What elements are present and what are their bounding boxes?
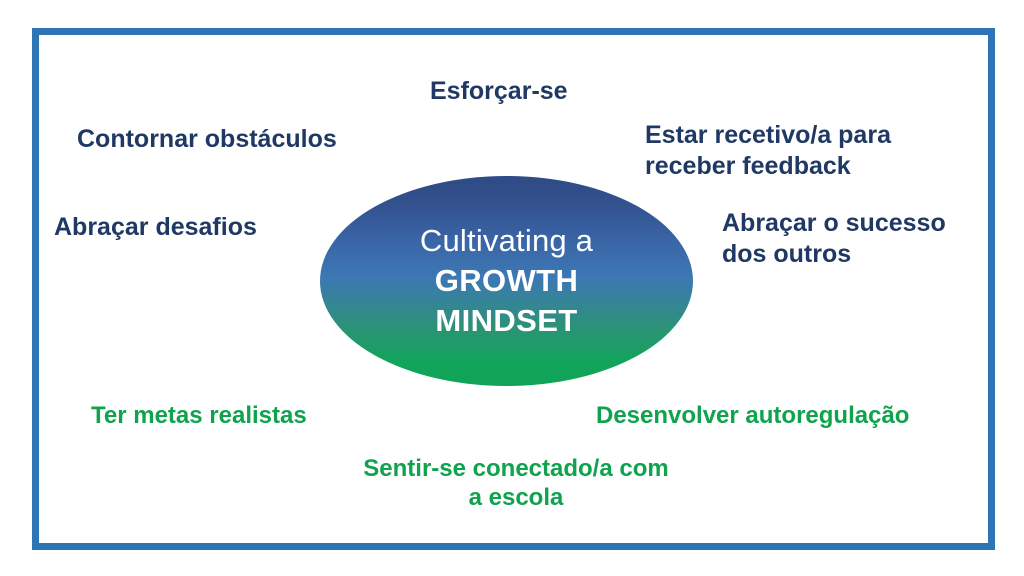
growth-mindset-diagram: Esforçar-se Contornar obstáculos Estar r… xyxy=(0,0,1024,576)
central-ellipse: Cultivating a GROWTH MINDSET xyxy=(320,176,693,386)
label-abracar-desafios: Abraçar desafios xyxy=(54,212,257,243)
label-abracar-o-sucesso-dos-outros: Abraçar o sucesso dos outros xyxy=(722,208,987,269)
label-sentir-se-conectado-com-a-escola: Sentir-se conectado/a com a escola xyxy=(356,454,676,513)
label-contornar-obstaculos: Contornar obstáculos xyxy=(77,124,337,155)
label-esforcar-se: Esforçar-se xyxy=(430,76,568,107)
label-ter-metas-realistas: Ter metas realistas xyxy=(91,401,307,430)
core-line-mindset: MINDSET xyxy=(435,303,577,340)
label-desenvolver-autorregulacao: Desenvolver autoregulação xyxy=(596,401,909,430)
label-estar-recetivo-para-receber-feedback: Estar recetivo/a para receber feedback xyxy=(645,120,915,181)
core-line-growth: GROWTH xyxy=(435,263,579,300)
core-line-cultivating: Cultivating a xyxy=(420,223,593,260)
